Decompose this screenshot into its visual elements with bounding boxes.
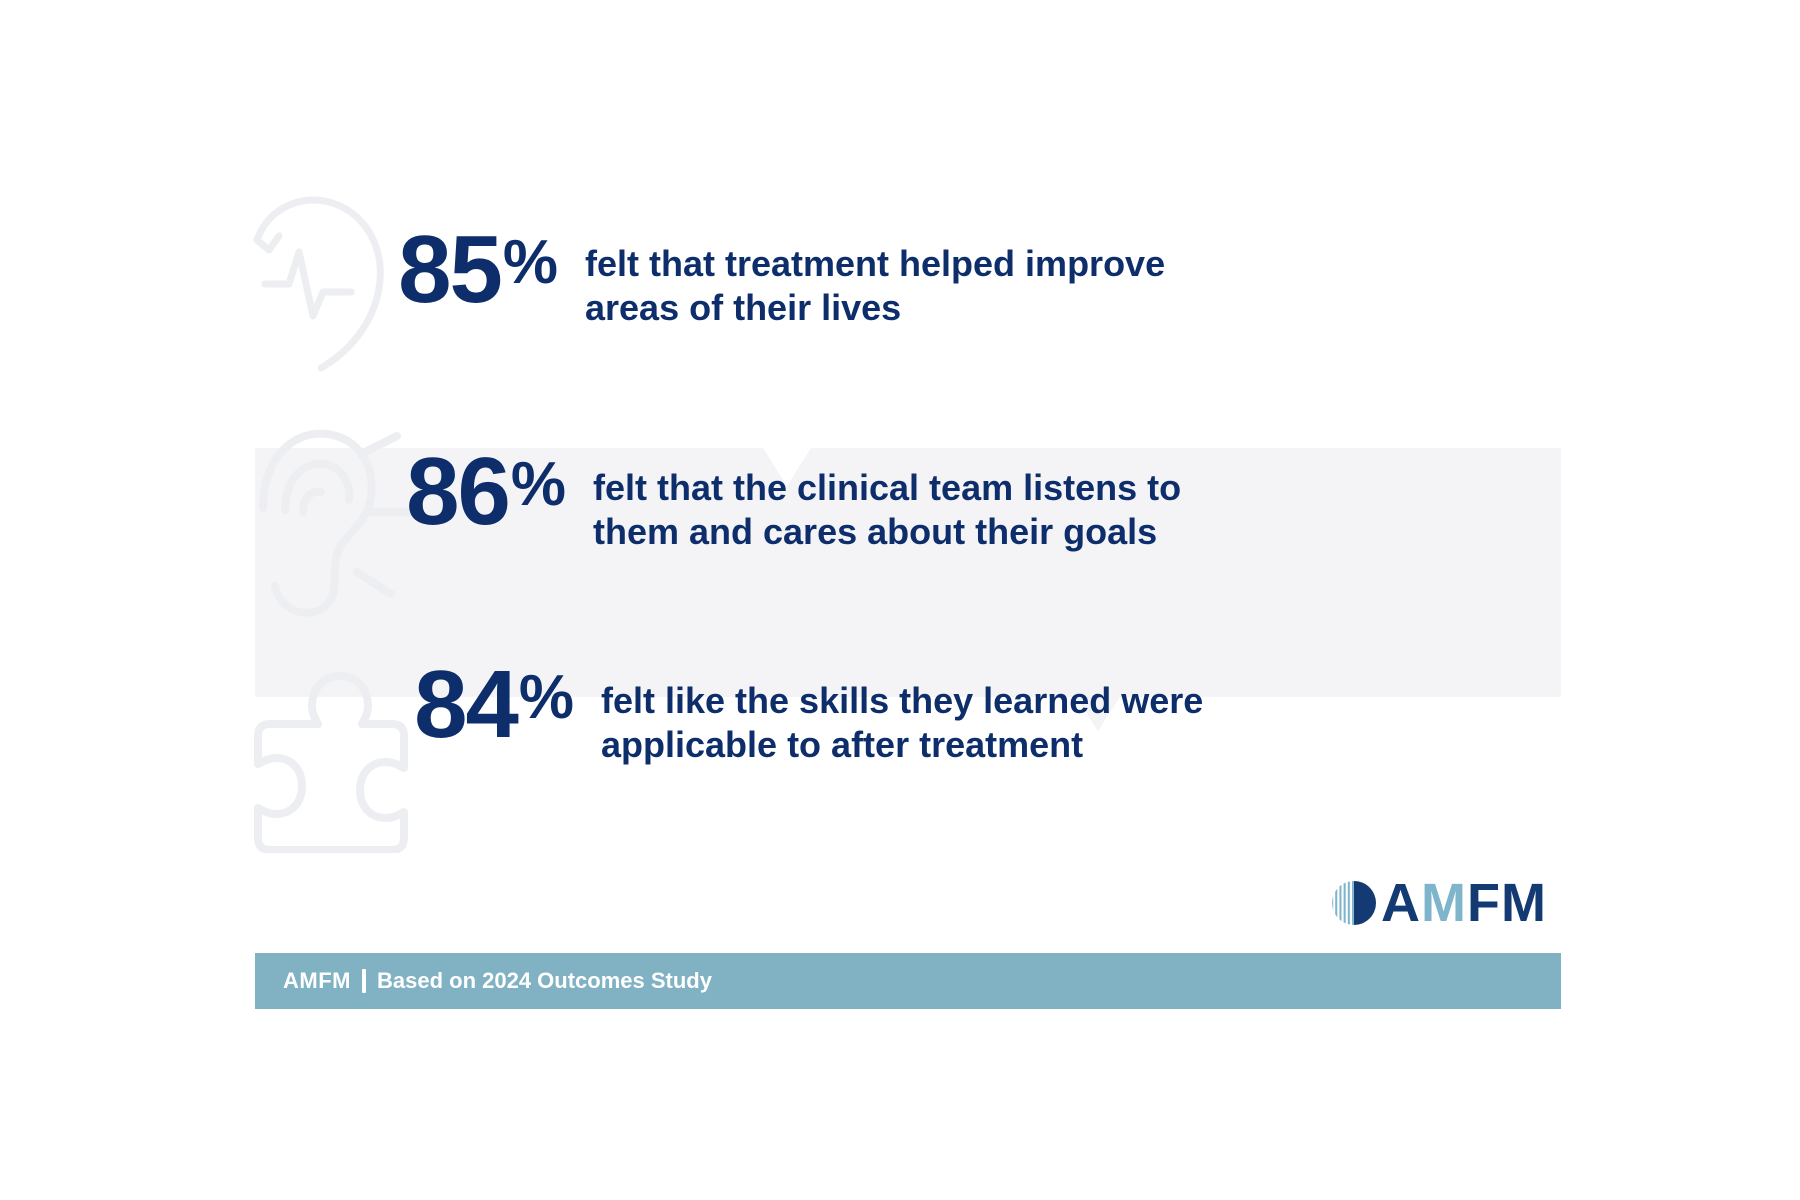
stat-row-2: 86% felt that the clinical team listens …: [255, 444, 1561, 554]
stat-description-2: felt that the clinical team listens to t…: [593, 444, 1181, 554]
stat-row-1: 85% felt that treatment helped improve a…: [255, 222, 1561, 330]
stat-description-1-line1: felt that treatment helped improve: [585, 242, 1165, 286]
footer-separator-icon: [362, 969, 366, 993]
infographic-root: 85% felt that treatment helped improve a…: [0, 0, 1800, 1200]
percent-symbol-3: %: [519, 663, 573, 732]
amfm-circle-mark-icon: [1331, 880, 1377, 926]
stat-description-1-line2: areas of their lives: [585, 286, 1165, 330]
stat-percent-value-3: 84: [414, 651, 517, 758]
footer-source-text: Based on 2024 Outcomes Study: [377, 970, 712, 992]
stat-description-1: felt that treatment helped improve areas…: [585, 222, 1165, 330]
content-column: 85% felt that treatment helped improve a…: [255, 0, 1561, 1200]
percent-symbol-1: %: [503, 228, 557, 297]
stat-percent-value-1: 85: [398, 216, 501, 323]
logo-letter-m2: M: [1501, 873, 1547, 933]
stat-description-2-line1: felt that the clinical team listens to: [593, 466, 1181, 510]
percent-symbol-2: %: [511, 450, 565, 519]
stat-description-3-line1: felt like the skills they learned were: [601, 679, 1203, 723]
amfm-logo: AMFM: [1331, 876, 1547, 930]
stat-description-3-line2: applicable to after treatment: [601, 723, 1203, 767]
amfm-wordmark: AMFM: [1381, 876, 1547, 930]
footer-bar: AMFM Based on 2024 Outcomes Study: [255, 953, 1561, 1009]
stat-percent-value-2: 86: [406, 438, 509, 545]
stat-percent-2: 86%: [255, 444, 593, 540]
logo-letter-f: F: [1467, 873, 1501, 933]
footer-brand: AMFM: [283, 970, 351, 992]
logo-letter-a1: A: [1381, 873, 1421, 933]
logo-letter-m1: M: [1421, 873, 1467, 933]
footer-content: AMFM Based on 2024 Outcomes Study: [255, 969, 712, 993]
stat-percent-3: 84%: [255, 657, 601, 753]
stat-description-2-line2: them and cares about their goals: [593, 510, 1181, 554]
stat-description-3: felt like the skills they learned were a…: [601, 657, 1203, 767]
stat-row-3: 84% felt like the skills they learned we…: [255, 657, 1561, 767]
stat-percent-1: 85%: [255, 222, 585, 318]
